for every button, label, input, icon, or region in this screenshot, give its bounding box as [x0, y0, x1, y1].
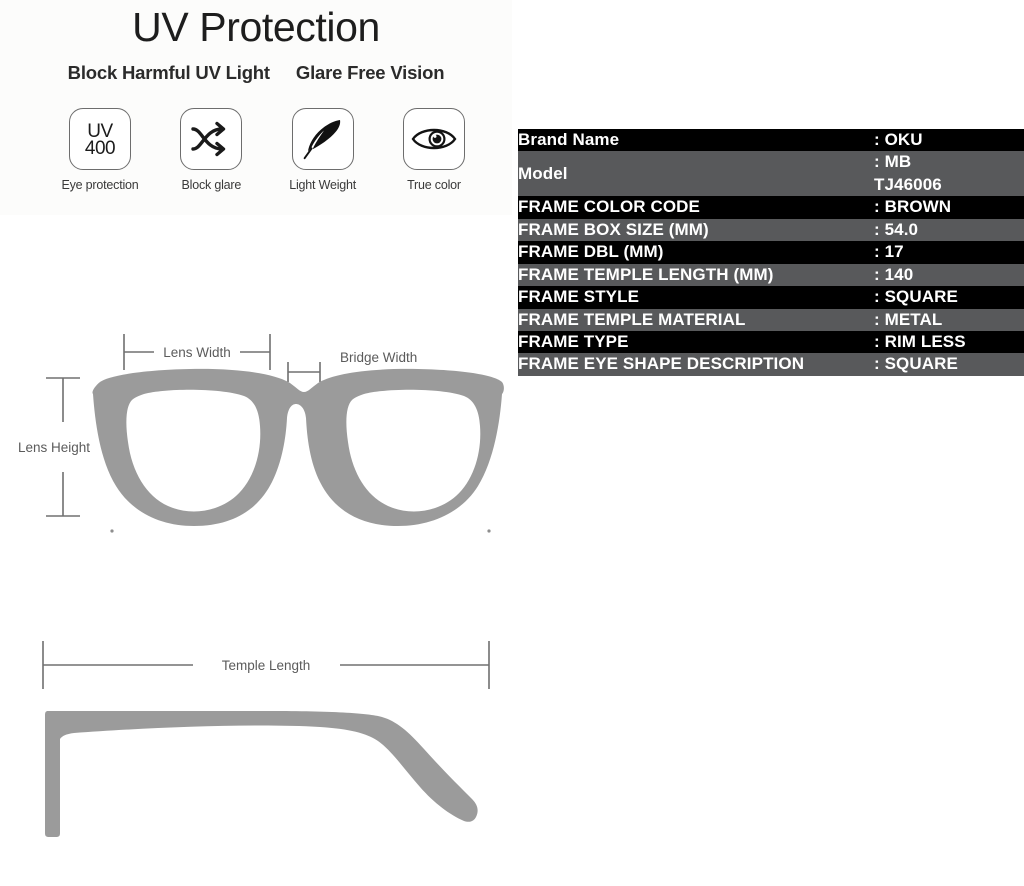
eye-icon: [403, 108, 465, 170]
glasses-front-measurement-diagram: Lens Width Bridge Width Lens Height: [0, 330, 512, 560]
uv-protection-title: UV Protection: [0, 4, 512, 51]
eye-glyph: [410, 123, 458, 155]
spec-label-frame-box-size: FRAME BOX SIZE (MM): [518, 219, 874, 241]
feature-true-color: True color: [386, 108, 482, 192]
spec-value-frame-style: : SQUARE: [874, 286, 1024, 308]
spec-label-frame-dbl: FRAME DBL (MM): [518, 241, 874, 263]
temple-arm-shape: [45, 711, 478, 837]
temple-length-label: Temple Length: [222, 658, 311, 673]
hinge-dot-right: [487, 529, 490, 532]
table-row: FRAME TYPE : RIM LESS: [518, 331, 1024, 353]
feature-eye-protection: UV 400 Eye protection: [52, 108, 148, 192]
table-row: FRAME TEMPLE LENGTH (MM) : 140: [518, 264, 1024, 286]
table-row: FRAME COLOR CODE : BROWN: [518, 196, 1024, 218]
uv400-icon-line2: 400: [85, 140, 115, 157]
feather-icon: [292, 108, 354, 170]
spec-value-brand-name: : OKU: [874, 129, 1024, 151]
promo-and-diagram-panel: UV Protection Block Harmful UV Light Gla…: [0, 0, 512, 886]
table-row: Brand Name : OKU: [518, 129, 1024, 151]
spec-value-frame-temple-length: : 140: [874, 264, 1024, 286]
table-row: FRAME EYE SHAPE DESCRIPTION : SQUARE: [518, 353, 1024, 375]
lens-width-label: Lens Width: [163, 345, 231, 360]
spec-value-frame-temple-material: : METAL: [874, 309, 1024, 331]
bridge-width-label: Bridge Width: [340, 350, 417, 365]
uv400-icon: UV 400: [69, 108, 131, 170]
spec-value-frame-type: : RIM LESS: [874, 331, 1024, 353]
shuffle-arrows-icon: [180, 108, 242, 170]
shuffle-arrows-glyph: [188, 118, 234, 160]
feather-glyph: [299, 115, 347, 163]
spec-label-frame-eye-shape-description: FRAME EYE SHAPE DESCRIPTION: [518, 353, 874, 375]
spec-label-frame-color-code: FRAME COLOR CODE: [518, 196, 874, 218]
glasses-temple-measurement-diagram: Temple Length: [0, 635, 512, 850]
product-spec-page: UV Protection Block Harmful UV Light Gla…: [0, 0, 1024, 886]
table-row: Model : MB TJ46006: [518, 151, 1024, 196]
table-row: FRAME TEMPLE MATERIAL : METAL: [518, 309, 1024, 331]
product-specification-table: Brand Name : OKU Model : MB TJ46006 FRAM…: [518, 129, 1024, 376]
eyeglass-frame-shape: [92, 369, 503, 526]
feature-light-weight: Light Weight: [275, 108, 371, 192]
feature-caption-light-weight: Light Weight: [289, 178, 356, 192]
spec-value-model: : MB TJ46006: [874, 151, 1024, 196]
spec-value-frame-eye-shape-description: : SQUARE: [874, 353, 1024, 375]
uv-protection-promo-block: UV Protection Block Harmful UV Light Gla…: [0, 0, 512, 215]
front-diagram-svg: Lens Width Bridge Width Lens Height: [0, 330, 512, 560]
spec-label-brand-name: Brand Name: [518, 129, 874, 151]
subtitle-glare-free-vision: Glare Free Vision: [296, 62, 444, 84]
table-row: FRAME DBL (MM) : 17: [518, 241, 1024, 263]
lens-height-label: Lens Height: [18, 440, 90, 455]
feature-caption-eye-protection: Eye protection: [61, 178, 138, 192]
bridge-width-dimension: [288, 362, 320, 382]
table-row: FRAME STYLE : SQUARE: [518, 286, 1024, 308]
feature-block-glare: Block glare: [163, 108, 259, 192]
spec-value-frame-color-code: : BROWN: [874, 196, 1024, 218]
spec-label-frame-temple-material: FRAME TEMPLE MATERIAL: [518, 309, 874, 331]
spec-value-frame-box-size: : 54.0: [874, 219, 1024, 241]
spec-label-frame-temple-length: FRAME TEMPLE LENGTH (MM): [518, 264, 874, 286]
uv400-icon-line1: UV: [85, 123, 115, 140]
feature-icons-row: UV 400 Eye protection: [52, 108, 482, 192]
hinge-dot-left: [110, 529, 113, 532]
temple-diagram-svg: Temple Length: [0, 635, 512, 850]
spec-label-model: Model: [518, 151, 874, 196]
spec-label-frame-style: FRAME STYLE: [518, 286, 874, 308]
table-row: FRAME BOX SIZE (MM) : 54.0: [518, 219, 1024, 241]
spec-label-frame-type: FRAME TYPE: [518, 331, 874, 353]
spec-table-body: Brand Name : OKU Model : MB TJ46006 FRAM…: [518, 129, 1024, 376]
uv-protection-subtitles: Block Harmful UV Light Glare Free Vision: [0, 62, 512, 84]
feature-caption-block-glare: Block glare: [182, 178, 242, 192]
subtitle-block-uv-light: Block Harmful UV Light: [68, 62, 270, 84]
feature-caption-true-color: True color: [407, 178, 461, 192]
spec-value-frame-dbl: : 17: [874, 241, 1024, 263]
